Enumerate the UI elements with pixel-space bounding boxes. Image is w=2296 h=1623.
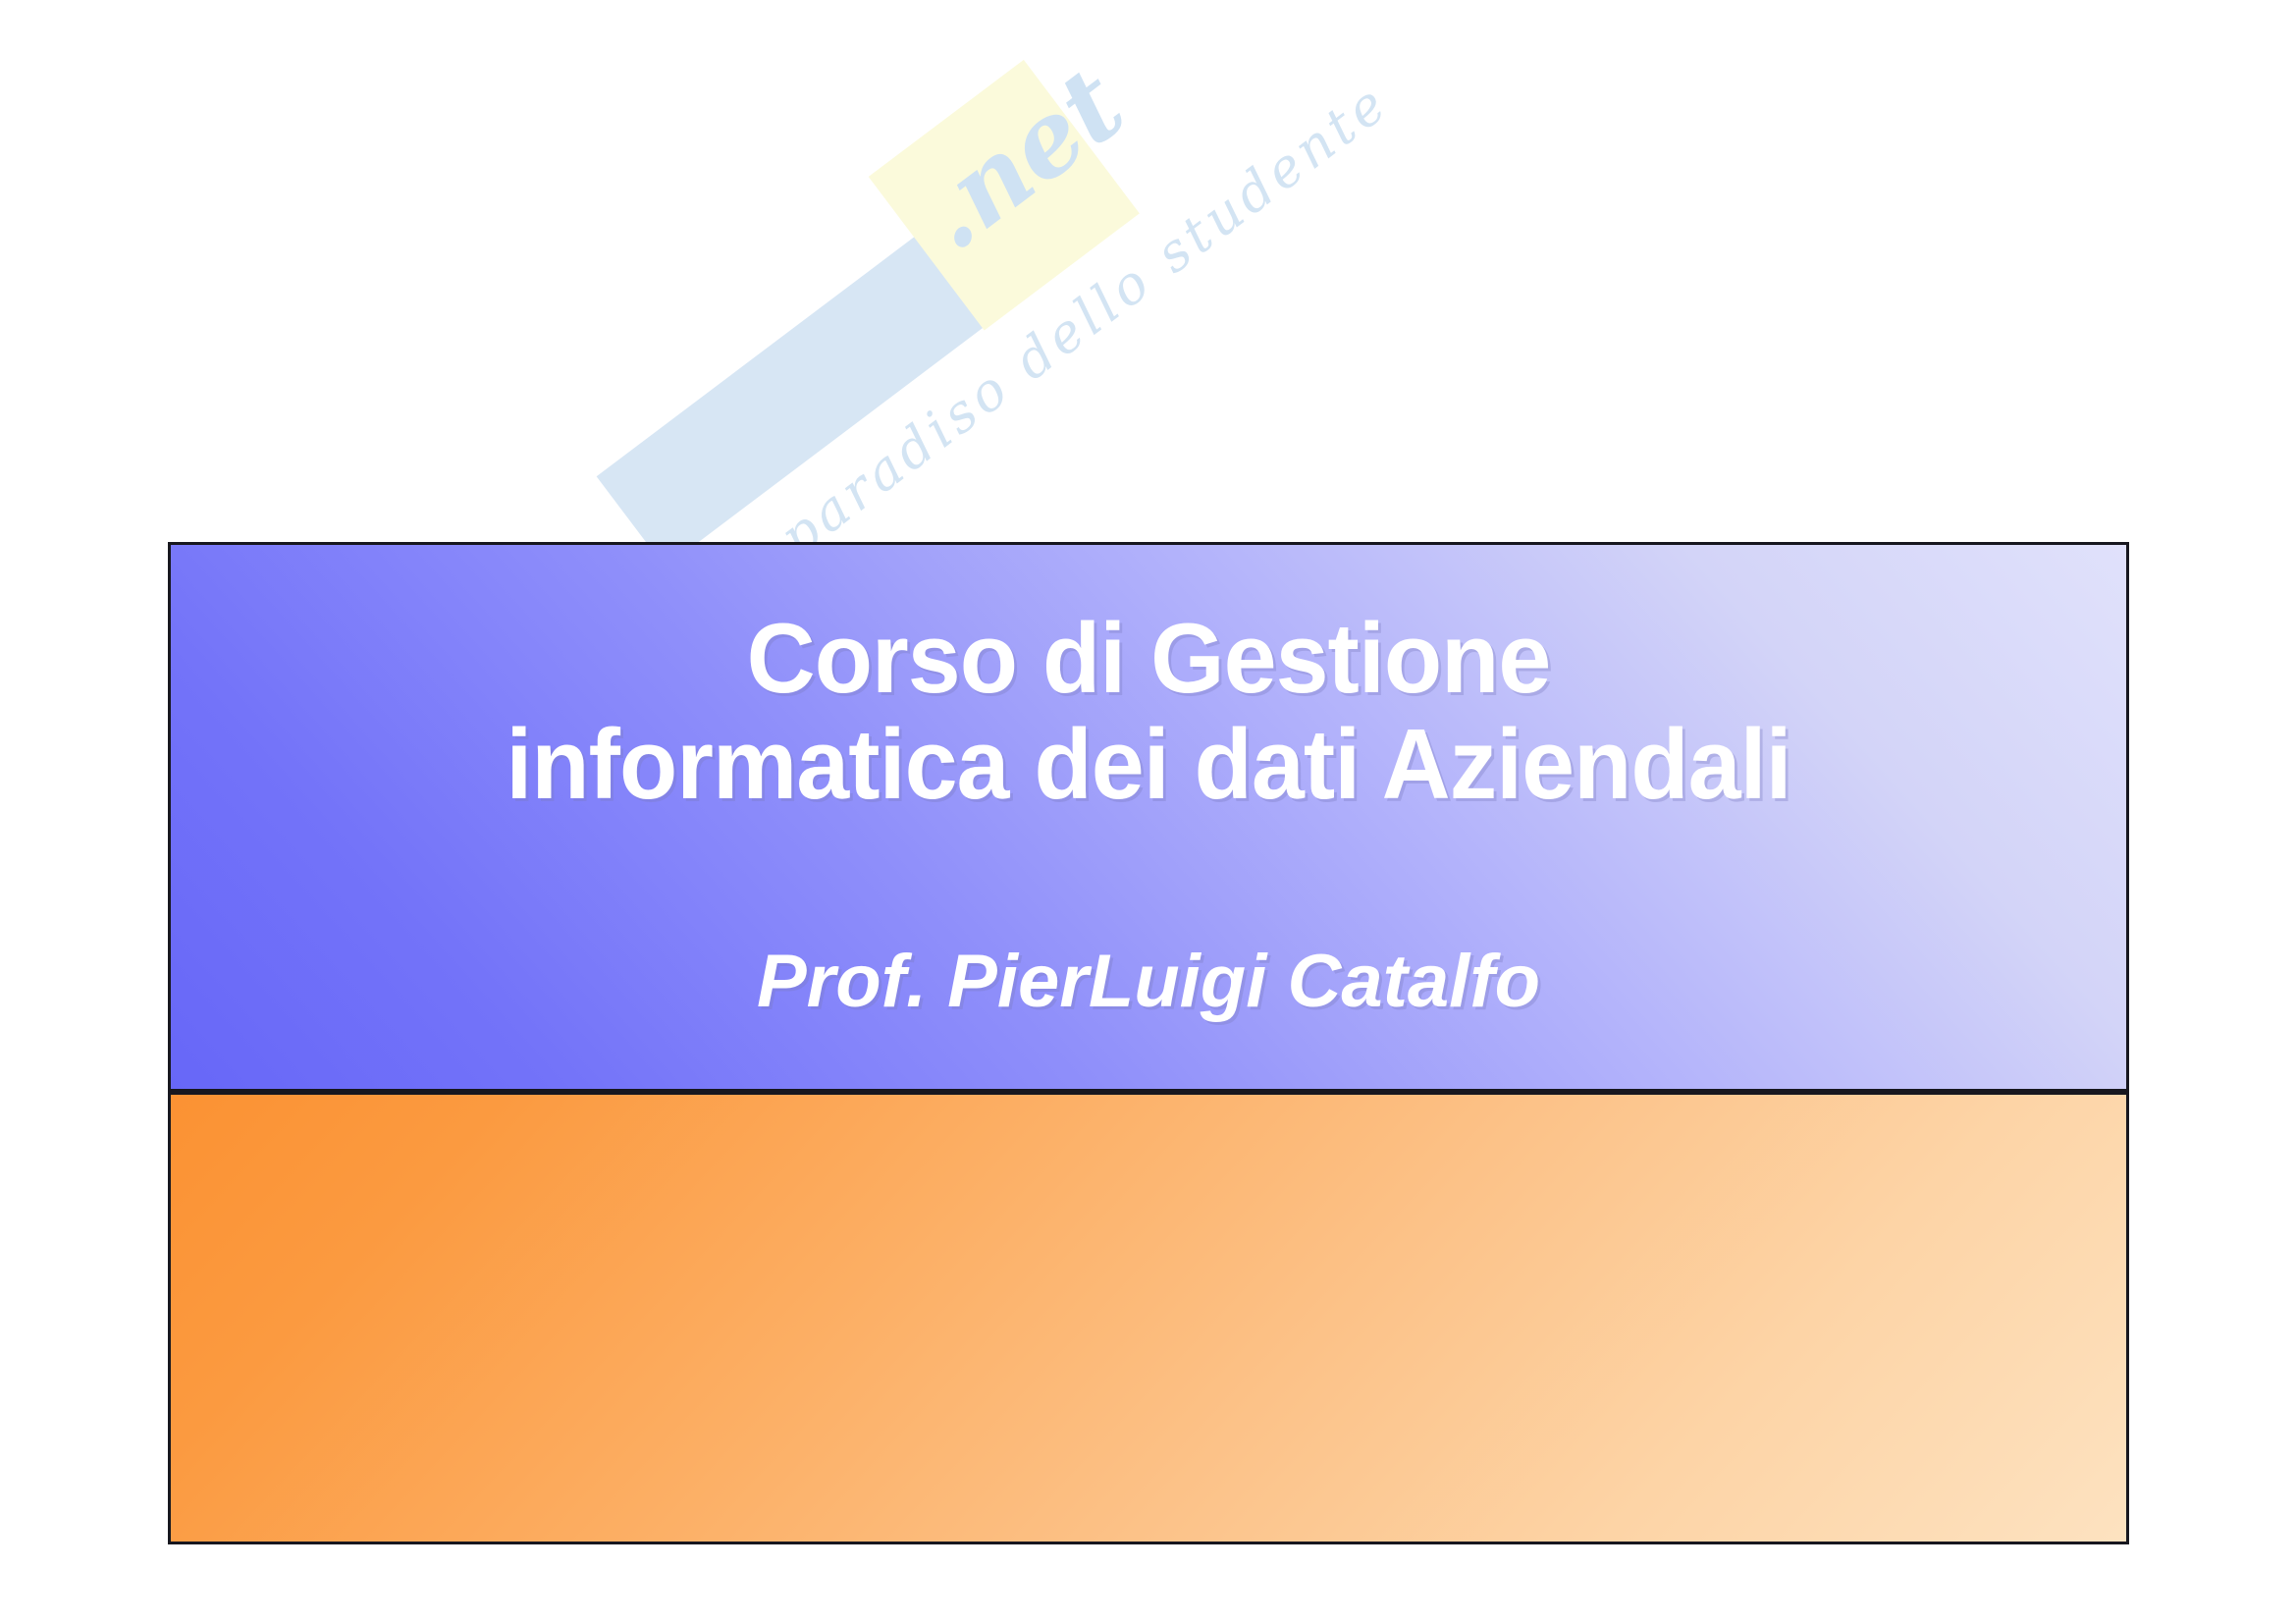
watermark-net-badge	[869, 60, 1140, 331]
slide-title-panel: Corso di Gestione informatica dei dati A…	[168, 542, 2129, 1092]
title-line-2: informatica dei dati Aziendali	[210, 712, 2087, 818]
watermark-tagline-text: il paradiso dello studente	[716, 71, 1400, 608]
slide-body-panel	[168, 1092, 2129, 1544]
slide-subtitle-author: Prof. PierLuigi Catalfo	[171, 941, 2126, 1023]
presentation-slide: Corso di Gestione informatica dei dati A…	[168, 542, 2129, 1544]
watermark-tld-text: .net	[898, 46, 1144, 271]
skuola-watermark: SKUOLa .net il paradiso dello studente	[589, 29, 1139, 540]
page-title: Corso di Gestione informatica dei dati A…	[171, 606, 2126, 818]
watermark-brand-text: SKUOLa	[517, 0, 909, 314]
watermark-banner-block	[597, 195, 1038, 568]
title-line-1: Corso di Gestione	[210, 606, 2087, 712]
